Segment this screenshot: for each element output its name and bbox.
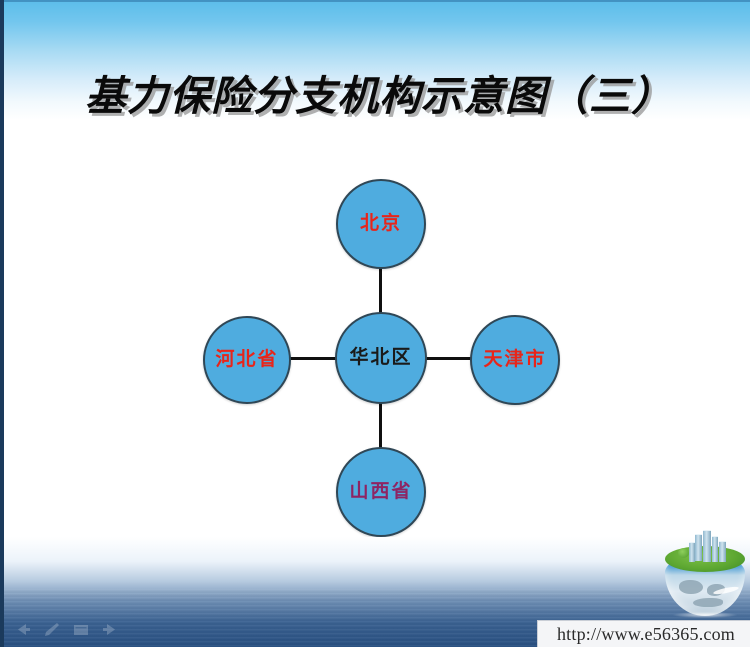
- node-tianjin-label: 天津市: [483, 350, 546, 369]
- org-diagram: 北京 河北省 华北区 天津市 山西省: [4, 0, 750, 647]
- url-plaque: http://www.e56365.com: [537, 620, 750, 647]
- node-hebei-label: 河北省: [215, 350, 278, 369]
- next-slide-icon[interactable]: [101, 622, 119, 637]
- globe-landmass: [693, 598, 723, 607]
- building-icon: [695, 534, 702, 561]
- node-hebei[interactable]: 河北省: [203, 316, 291, 404]
- slideshow-menu-icon[interactable]: [72, 622, 90, 637]
- connector-center-to-right: [426, 357, 471, 360]
- building-icon: [703, 530, 711, 562]
- globe-landmass: [679, 580, 703, 594]
- node-huabei-region[interactable]: 华北区: [335, 312, 427, 404]
- node-shanxi-label: 山西省: [349, 482, 412, 501]
- previous-slide-icon[interactable]: [14, 622, 32, 637]
- connector-center-to-left: [290, 357, 336, 360]
- slide-canvas: 基力保险分支机构示意图（三） 北京 河北省 华北区 天津市 山西省: [0, 0, 750, 647]
- building-icon: [719, 541, 726, 562]
- slideshow-controls: [14, 622, 119, 637]
- connector-center-to-top: [379, 268, 382, 314]
- node-huabei-region-label: 华北区: [349, 348, 412, 367]
- node-shanxi[interactable]: 山西省: [336, 447, 426, 537]
- website-url[interactable]: http://www.e56365.com: [557, 624, 735, 645]
- pen-tool-icon[interactable]: [43, 622, 61, 637]
- building-icon: [712, 536, 718, 562]
- tree-icon: [678, 548, 689, 558]
- globe-logo-icon: [659, 530, 750, 618]
- node-tianjin[interactable]: 天津市: [470, 315, 560, 405]
- connector-center-to-bottom: [379, 402, 382, 448]
- node-beijing[interactable]: 北京: [336, 179, 426, 269]
- node-beijing-label: 北京: [360, 214, 402, 233]
- globe-reflection: [673, 612, 737, 618]
